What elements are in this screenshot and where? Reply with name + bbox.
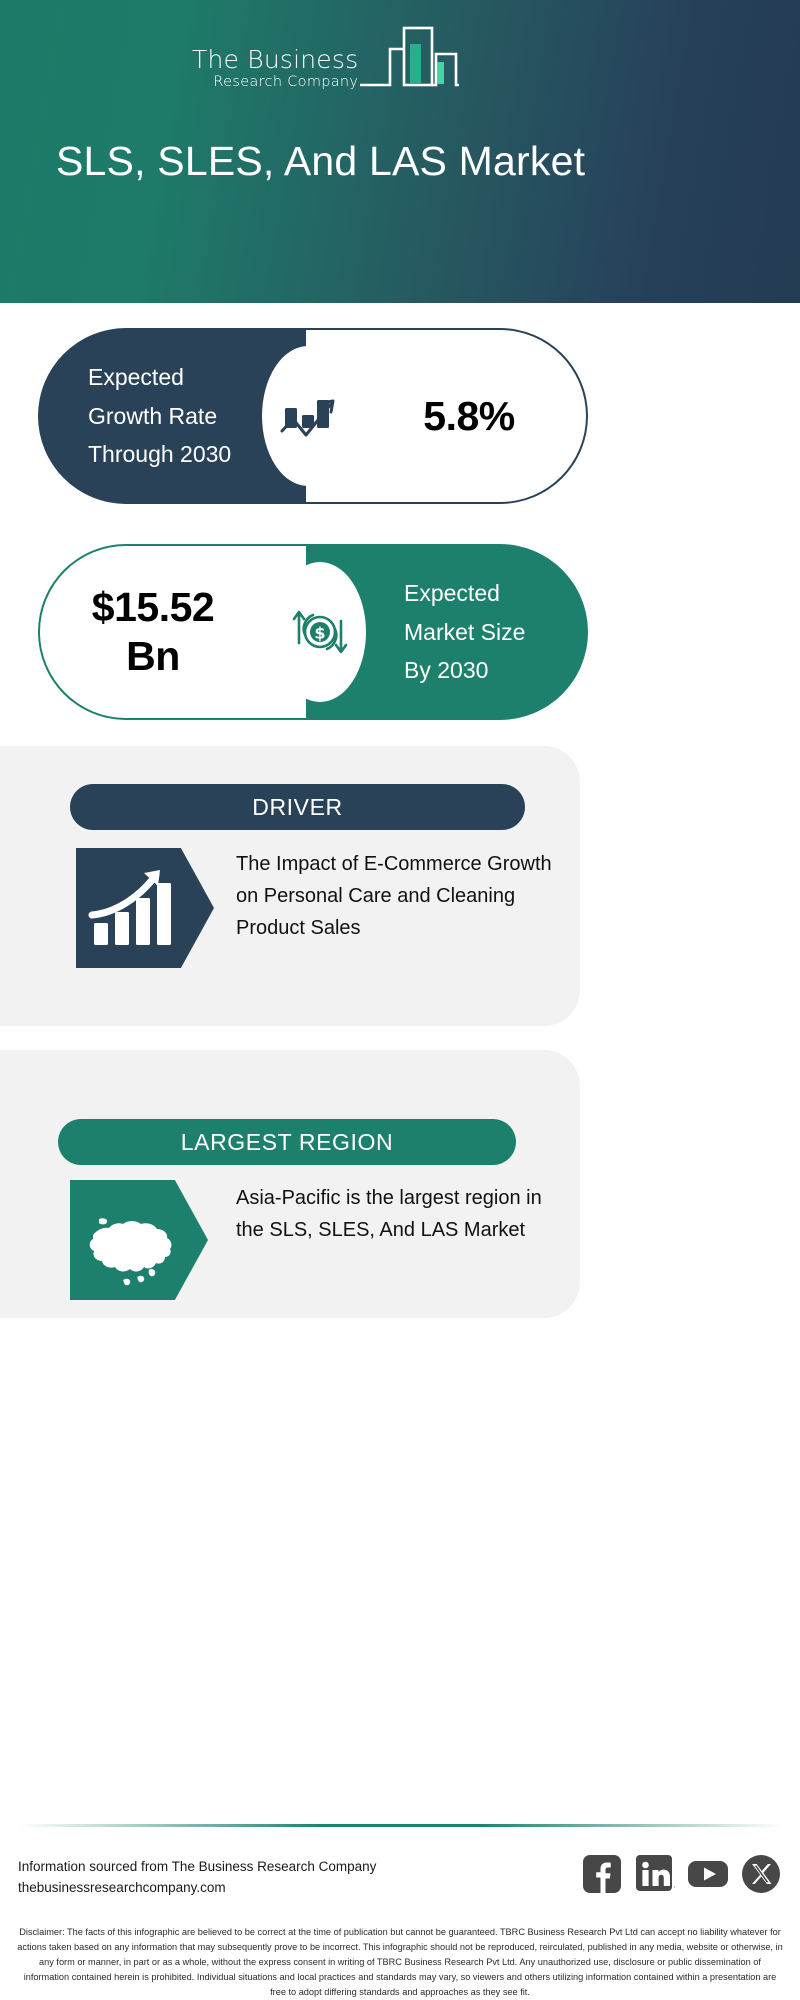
dollar-cycle-icon: $ <box>274 562 366 702</box>
growth-rate-label-line-1: Expected <box>88 358 184 397</box>
bar-chart-logo-mark-icon <box>356 22 460 97</box>
footer-source-line-1: Information sourced from The Business Re… <box>18 1857 376 1878</box>
svg-text:$: $ <box>314 624 325 643</box>
market-size-label-line-2: Market Size <box>404 613 525 652</box>
market-size-value-panel: $15.52 Bn <box>38 544 306 720</box>
company-logo: The Business Research Company <box>192 22 460 101</box>
page-title: SLS, SLES, And LAS Market <box>56 138 756 185</box>
youtube-icon[interactable] <box>687 1853 729 1895</box>
footer-divider <box>18 1824 784 1827</box>
market-size-label-line-1: Expected <box>404 574 500 613</box>
largest-region-text: Asia-Pacific is the largest region in th… <box>236 1182 556 1246</box>
largest-region-pill: LARGEST REGION <box>58 1119 516 1165</box>
growth-rate-label-line-3: Through 2030 <box>88 435 231 474</box>
svg-text:™: ™ <box>673 1886 675 1892</box>
driver-pill: DRIVER <box>70 784 525 830</box>
facebook-icon[interactable] <box>581 1853 623 1895</box>
growth-chart-arrow-icon <box>262 346 354 486</box>
disclaimer-text: Disclaimer: The facts of this infographi… <box>16 1925 784 2000</box>
market-size-label-line-3: By 2030 <box>404 651 488 690</box>
logo-subtitle-line: Research Company <box>213 74 358 91</box>
expected-growth-rate-card: Expected Growth Rate Through 2030 5.8% <box>38 328 588 504</box>
social-links: ™ <box>581 1853 782 1895</box>
market-size-value-line-1: $15.52 <box>92 584 214 631</box>
driver-text: The Impact of E-Commerce Growth on Perso… <box>236 848 556 944</box>
linkedin-icon[interactable]: ™ <box>634 1853 676 1895</box>
x-twitter-icon[interactable] <box>740 1853 782 1895</box>
infographic-page: The Business Research Company SLS, SLES,… <box>0 0 800 2000</box>
market-size-value-line-2: Bn <box>126 633 180 680</box>
growth-rate-label-line-2: Growth Rate <box>88 397 217 436</box>
header-banner: The Business Research Company SLS, SLES,… <box>0 0 800 303</box>
expected-market-size-card: $15.52 Bn Expected Market Size By 2030 $ <box>38 544 588 720</box>
footer-source: Information sourced from The Business Re… <box>18 1857 376 1899</box>
footer-source-line-2[interactable]: thebusinessresearchcompany.com <box>18 1878 376 1899</box>
logo-title-line: The Business <box>192 47 358 72</box>
logo-text: The Business Research Company <box>192 47 358 101</box>
growth-rate-value: 5.8% <box>423 393 514 440</box>
